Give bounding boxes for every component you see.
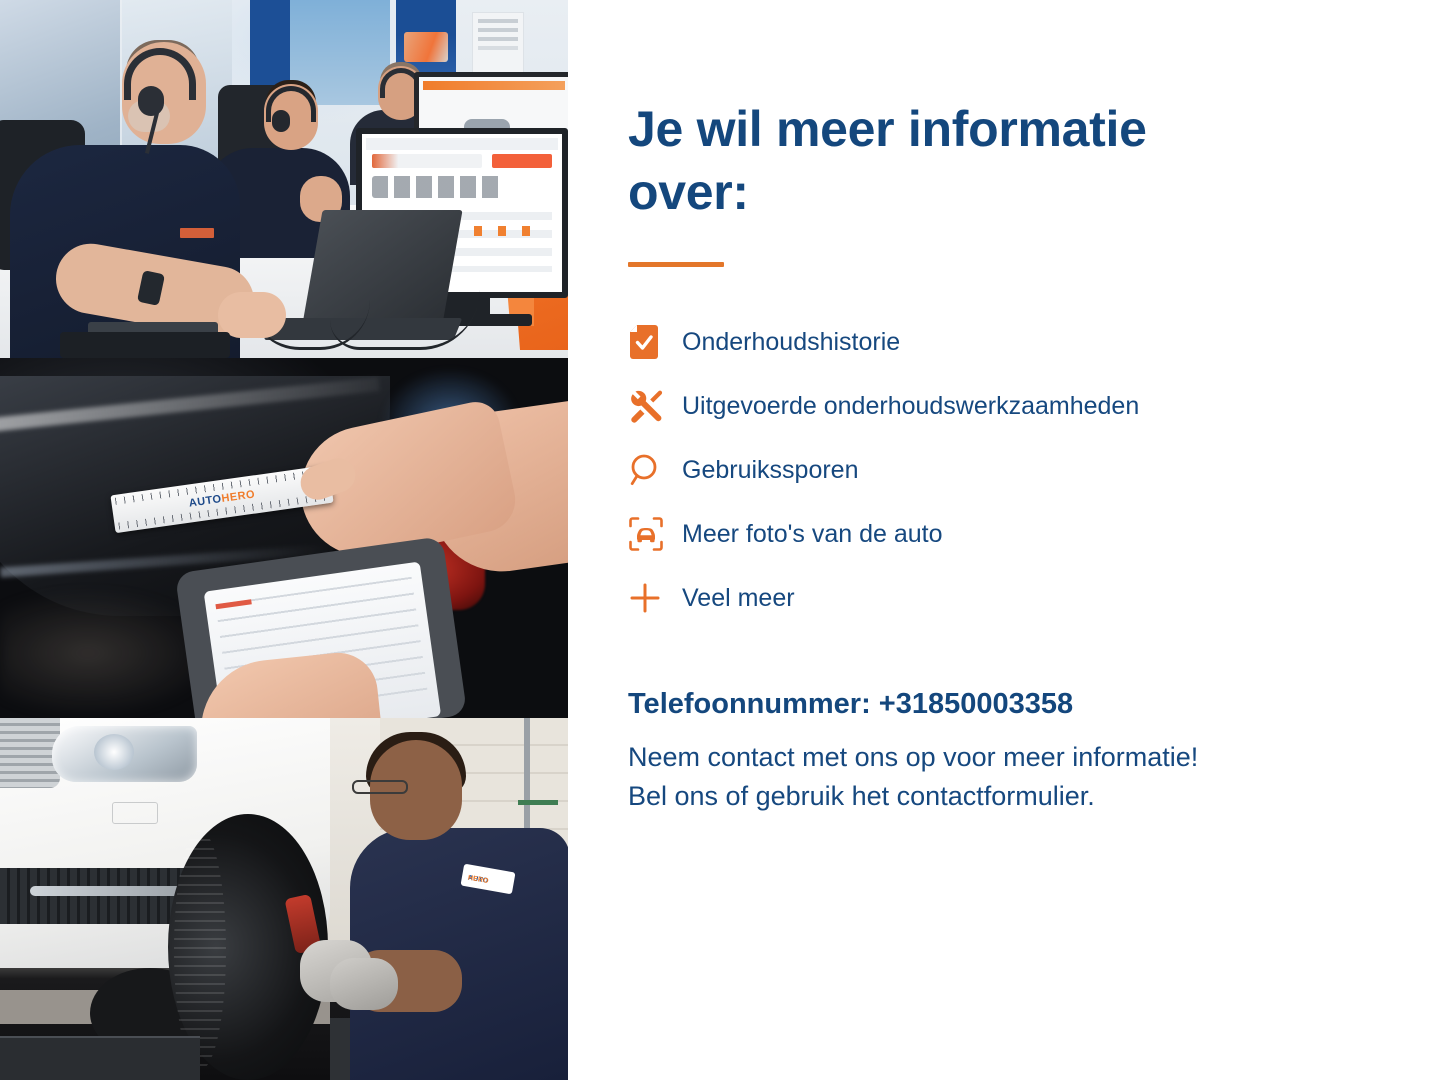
car-headlight: [52, 726, 197, 782]
car-grille: [0, 718, 60, 788]
document-check-icon: [628, 324, 682, 360]
magnifier-icon: [628, 453, 682, 487]
monitor-cta-button: [492, 154, 552, 168]
tools-wrench-screwdriver-icon: [628, 388, 682, 424]
workshop-mechanic-photo: AUTOHERO: [0, 718, 568, 1080]
content-panel: Je wil meer informatie over: Onderhoudsh…: [568, 0, 1440, 1080]
feature-item-gebruikssporen: Gebruikssporen: [628, 438, 1388, 502]
title-divider: [628, 262, 724, 267]
wall-notice: [472, 12, 524, 74]
vehicle-inspection-photo: AUTOHERO: [0, 358, 568, 718]
feature-label: Onderhoudshistorie: [682, 327, 900, 357]
feature-item-onderhoudshistorie: Onderhoudshistorie: [628, 310, 1388, 374]
agent-2-headset-cup: [272, 110, 290, 132]
promo-page: AUTOHERO: [0, 0, 1440, 1080]
green-hose: [518, 800, 558, 805]
ruler-brand-part-2: HERO: [221, 488, 256, 505]
feature-item-veel-meer: Veel meer: [628, 566, 1388, 630]
contact-text-line-1: Neem contact met ons op voor meer inform…: [628, 738, 1388, 777]
mechanic-glasses: [352, 780, 408, 794]
desk-tablet: [60, 332, 230, 358]
feature-label: Veel meer: [682, 583, 795, 613]
call-center-agents-photo: [0, 0, 568, 358]
tool-cabinet-left: [0, 1036, 200, 1080]
monitor-nav-bar: [372, 154, 482, 168]
photo-column: AUTOHERO: [0, 0, 568, 1080]
ruler-brand-part-1: AUTO: [188, 493, 222, 509]
polo-logo-badge: [180, 228, 214, 238]
contact-text-line-2: Bel ons of gebruik het contactformulier.: [628, 777, 1388, 816]
feature-item-onderhoudswerkzaamheden: Uitgevoerde onderhoudswerkzaamheden: [628, 374, 1388, 438]
feature-label: Gebruikssporen: [682, 455, 858, 485]
agent-1-headset-cup: [138, 86, 164, 116]
contact-block: Telefoonnummer: +31850003358 Neem contac…: [628, 688, 1388, 816]
plus-icon: [628, 581, 682, 615]
monitor-browser-chrome: [366, 138, 558, 150]
mechanic-glove-right: [330, 958, 398, 1010]
phone-number-line: Telefoonnummer: +31850003358: [628, 688, 1388, 721]
feature-list: Onderhoudshistorie Uitgevoerde onderhoud…: [628, 310, 1388, 630]
feature-label: Uitgevoerde onderhoudswerkzaamheden: [682, 391, 1139, 421]
agent-1-hand: [218, 292, 286, 338]
car-plate-recess: [112, 802, 158, 824]
feature-label: Meer foto's van de auto: [682, 519, 943, 549]
car-scan-icon: [628, 516, 682, 552]
monitor-car-thumbnails: [372, 176, 502, 198]
feature-item-meer-fotos: Meer foto's van de auto: [628, 502, 1388, 566]
page-title: Je wil meer informatie over:: [628, 98, 1148, 223]
tire-tread: [174, 830, 226, 1070]
